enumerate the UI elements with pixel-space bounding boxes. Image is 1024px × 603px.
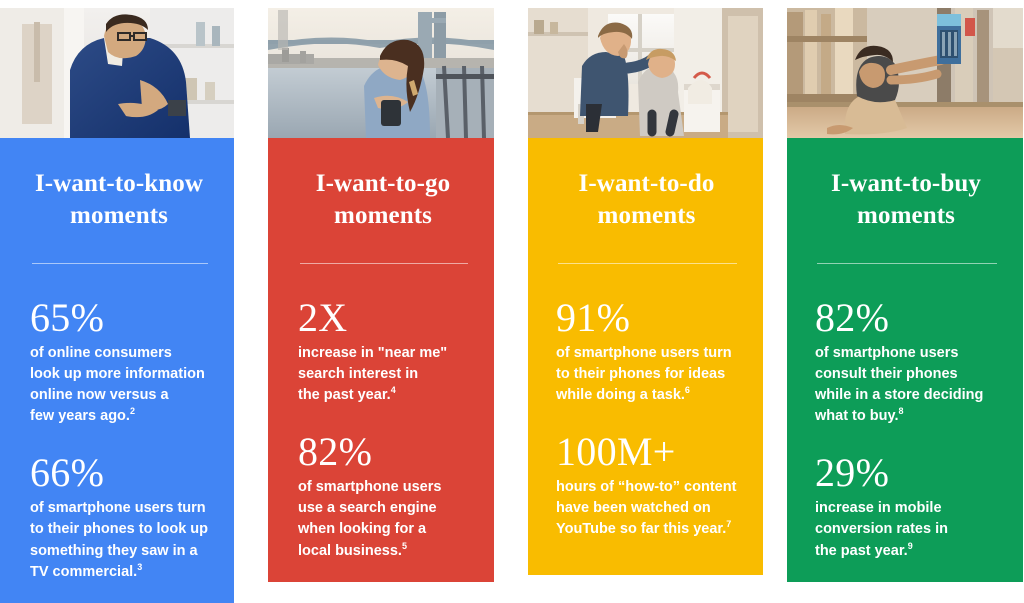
footnote-marker: 4	[391, 385, 396, 395]
stat-item: 91% of smartphone users turn to their ph…	[556, 298, 741, 406]
photo-man-with-phone	[0, 8, 234, 138]
panel-i-want-to-know: I-want-to-know moments 65% of online con…	[0, 138, 234, 603]
stat-text: of smartphone users turn to their phones…	[30, 498, 212, 583]
stat-text: increase in mobile conversion rates in t…	[815, 498, 1001, 561]
panel-title: I-want-to-know moments	[30, 168, 212, 232]
stat-item: 29% increase in mobile conversion rates …	[815, 453, 1001, 561]
footnote-marker: 7	[726, 520, 731, 530]
photo-father-and-daughter	[528, 8, 763, 138]
stat-figure: 82%	[815, 298, 1001, 339]
panel-i-want-to-buy: I-want-to-buy moments 82% of smartphone …	[787, 138, 1023, 582]
stat-item: 82% of smartphone users use a search eng…	[298, 432, 472, 561]
panel-title: I-want-to-go moments	[298, 168, 472, 232]
stat-text: of smartphone users consult their phones…	[815, 343, 1001, 428]
stats-list: 91% of smartphone users turn to their ph…	[556, 298, 741, 541]
stat-item: 65% of online consumers look up more inf…	[30, 298, 212, 427]
photo-woman-shopping	[787, 8, 1023, 138]
panel-title: I-want-to-buy moments	[815, 168, 1001, 232]
stat-figure: 91%	[556, 298, 741, 339]
footnote-marker: 8	[899, 406, 904, 416]
divider	[558, 263, 737, 264]
divider	[300, 263, 468, 264]
panel-i-want-to-do: I-want-to-do moments 91% of smartphone u…	[528, 138, 763, 575]
column-i-want-to-buy: I-want-to-buy moments 82% of smartphone …	[787, 8, 1023, 575]
stat-item: 100M+ hours of “how-to” content have bee…	[556, 432, 741, 540]
stat-text: increase in "near me" search interest in…	[298, 343, 472, 406]
photo-woman-by-bridge	[268, 8, 494, 138]
footnote-marker: 6	[685, 385, 690, 395]
column-i-want-to-do: I-want-to-do moments 91% of smartphone u…	[528, 8, 763, 575]
stat-figure: 66%	[30, 453, 212, 494]
footnote-marker: 3	[137, 562, 142, 572]
footnote-marker: 5	[402, 541, 407, 551]
footnote-marker: 9	[908, 541, 913, 551]
column-i-want-to-go: I-want-to-go moments 2X increase in "nea…	[268, 8, 494, 575]
stats-list: 65% of online consumers look up more inf…	[30, 298, 212, 583]
stat-text: hours of “how-to” content have been watc…	[556, 477, 741, 540]
divider	[817, 263, 997, 264]
panel-i-want-to-go: I-want-to-go moments 2X increase in "nea…	[268, 138, 494, 582]
stat-figure: 100M+	[556, 432, 741, 473]
stat-figure: 2X	[298, 298, 472, 339]
stat-text: of smartphone users use a search engine …	[298, 477, 472, 562]
stat-text: of online consumers look up more informa…	[30, 343, 212, 428]
stat-figure: 65%	[30, 298, 212, 339]
stat-item: 82% of smartphone users consult their ph…	[815, 298, 1001, 427]
panel-title: I-want-to-do moments	[556, 168, 741, 232]
stat-item: 2X increase in "near me" search interest…	[298, 298, 472, 406]
stats-list: 82% of smartphone users consult their ph…	[815, 298, 1001, 562]
column-i-want-to-know: I-want-to-know moments 65% of online con…	[0, 8, 234, 575]
stat-text: of smartphone users turn to their phones…	[556, 343, 741, 406]
stats-list: 2X increase in "near me" search interest…	[298, 298, 472, 562]
divider	[32, 263, 208, 264]
stat-figure: 29%	[815, 453, 1001, 494]
stat-figure: 82%	[298, 432, 472, 473]
footnote-marker: 2	[130, 406, 135, 416]
micro-moments-board: I-want-to-know moments 65% of online con…	[0, 0, 1024, 585]
stat-item: 66% of smartphone users turn to their ph…	[30, 453, 212, 582]
